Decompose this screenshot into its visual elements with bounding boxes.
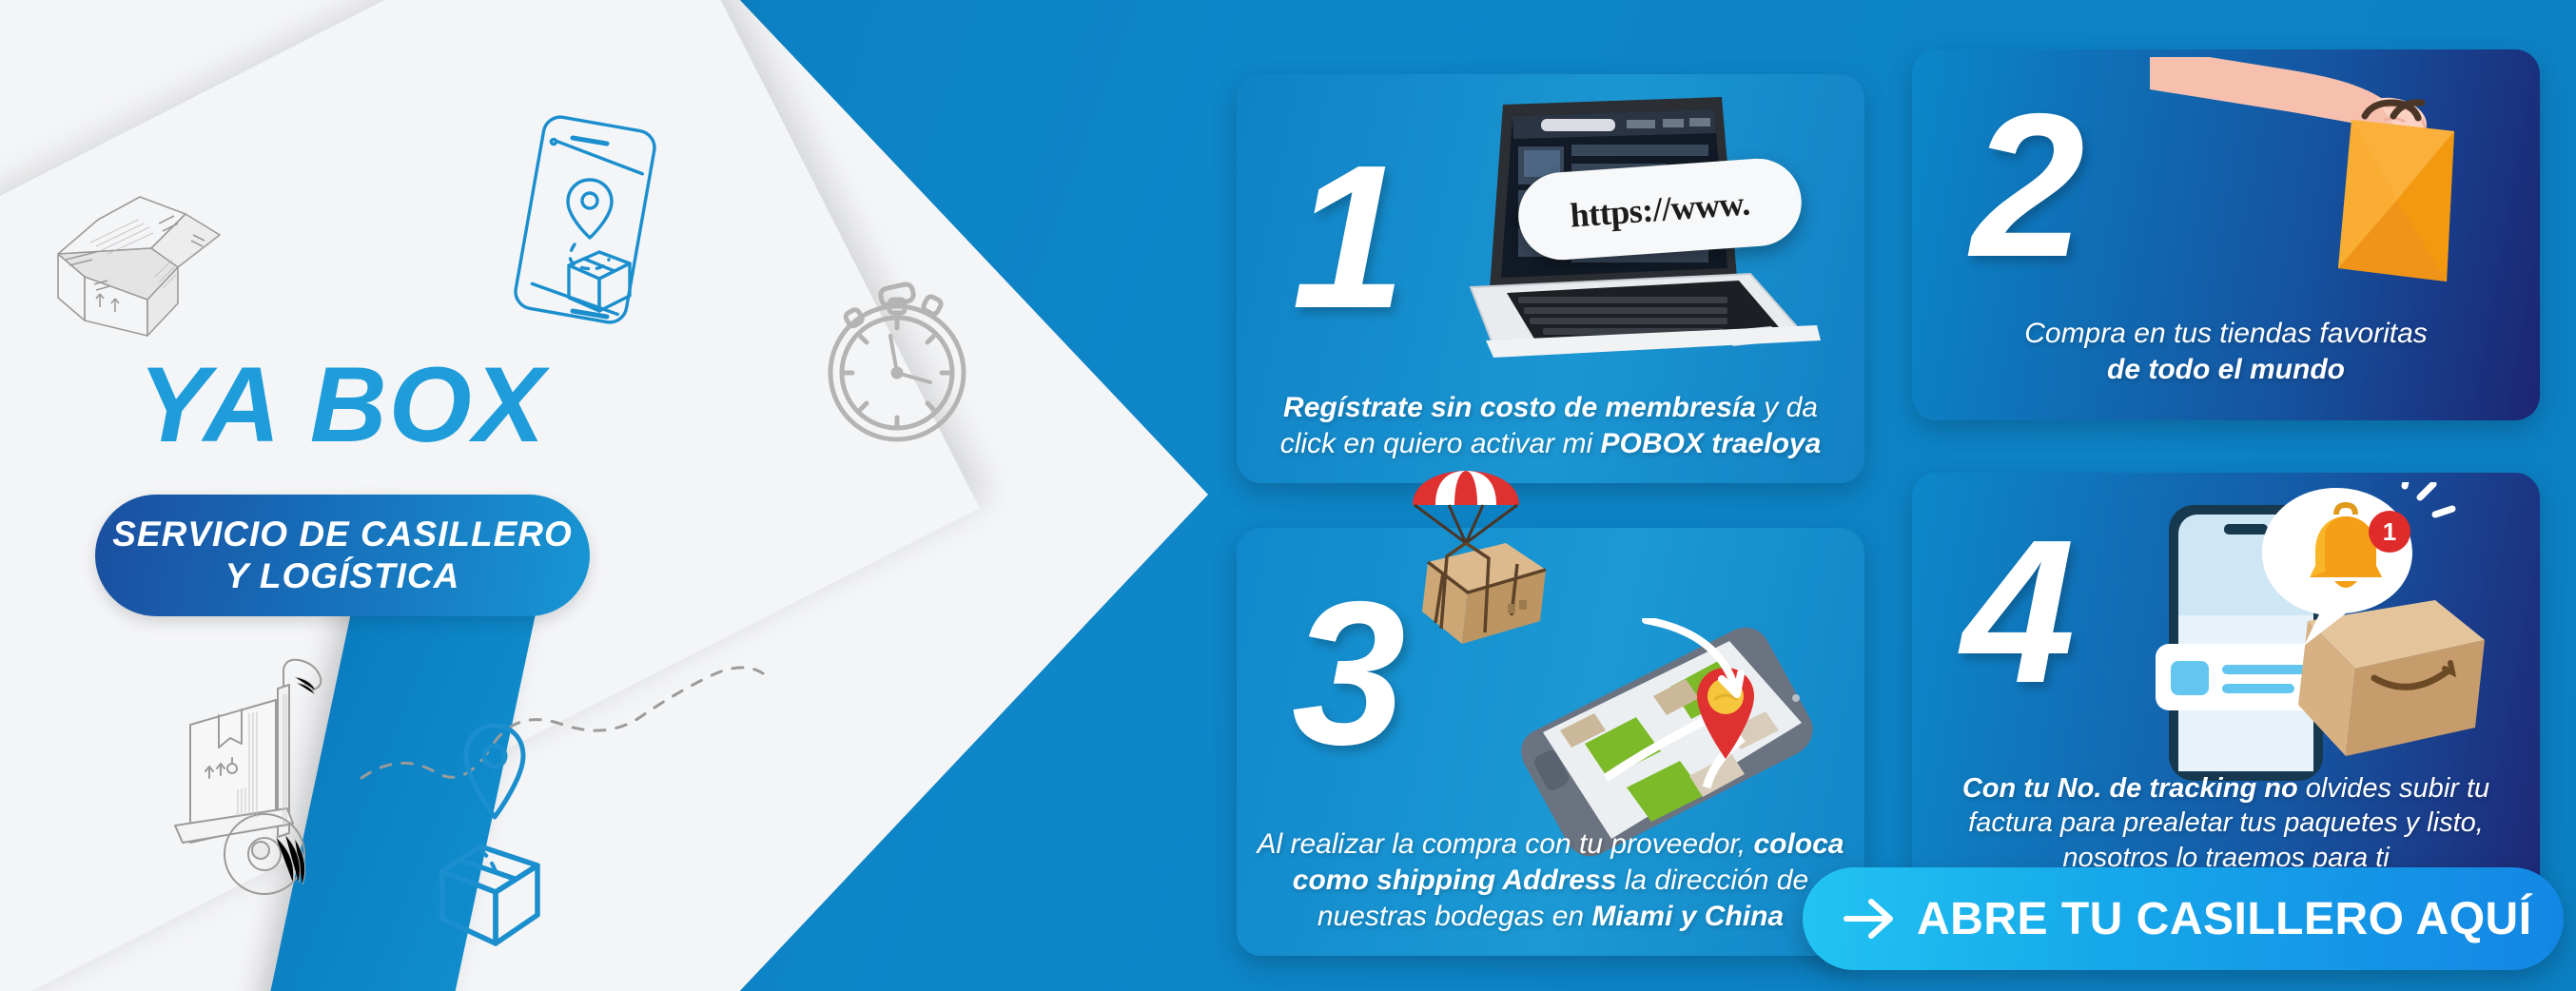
url-text: https://www. [1569, 183, 1751, 235]
step-number-3: 3 [1292, 587, 1406, 761]
step-text-4: Con tu No. de tracking no olvides subir … [1929, 771, 2523, 876]
promo-banner: YA BOX SERVICIO DE CASILLERO Y LOGÍSTICA… [0, 0, 2576, 991]
phone-notification-package-illustration: 1 [2150, 482, 2521, 796]
step-text-1: Regístrate sin costo de membresía y da c… [1254, 390, 1847, 462]
arrow-right-icon [1843, 894, 1896, 943]
step-card-2[interactable]: 2 Compra en tus tiendas favoritasde todo… [1912, 49, 2540, 420]
notification-badge-count: 1 [2383, 517, 2396, 546]
cta-label: ABRE TU CASILLERO AQUÍ [1917, 893, 2532, 945]
step-number-1: 1 [1292, 150, 1406, 324]
steps-container: 1 [0, 0, 2576, 991]
parachute-package-illustration [1394, 471, 1612, 661]
step-text-3: Al realizar la compra con tu proveedor, … [1254, 826, 1847, 935]
open-locker-cta-button[interactable]: ABRE TU CASILLERO AQUÍ [1803, 867, 2564, 970]
step-number-2: 2 [1971, 99, 2085, 273]
step-number-4: 4 [1961, 525, 2076, 699]
step-card-1[interactable]: 1 [1237, 74, 1864, 483]
step-card-4[interactable]: 4 [1912, 473, 2540, 901]
step-text-2: Compra en tus tiendas favoritasde todo e… [1929, 316, 2523, 388]
